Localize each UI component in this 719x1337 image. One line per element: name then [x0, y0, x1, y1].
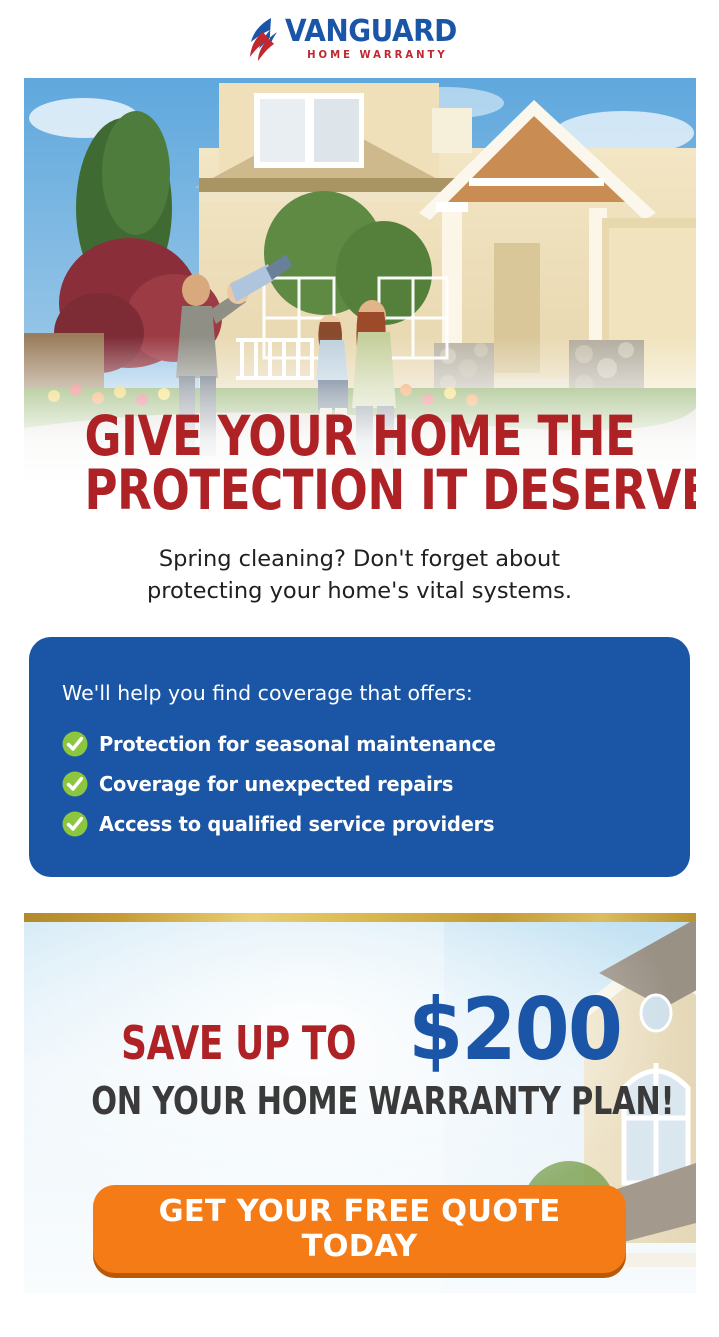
get-free-quote-button[interactable]: GET YOUR FREE QUOTE TODAY	[93, 1185, 626, 1273]
flame-swoosh-icon	[249, 16, 283, 62]
list-item: Access to qualified service providers	[29, 811, 690, 837]
benefit-label: Coverage for unexpected repairs	[99, 772, 453, 796]
hero-section: GIVE YOUR HOME THE PROTECTION IT DESERVE…	[24, 78, 696, 526]
subheadline-line-2: protecting your home's vital systems.	[24, 576, 696, 608]
hero-headline-line-1: GIVE YOUR HOME THE	[84, 410, 635, 464]
benefit-label: Access to qualified service providers	[99, 812, 494, 836]
subheadline-line-1: Spring cleaning? Don't forget about	[24, 544, 696, 576]
site-header: VANGUARD HOME WARRANTY	[0, 0, 719, 78]
savings-subline: ON YOUR HOME WARRANTY PLAN!	[91, 1079, 629, 1123]
gold-divider-bar	[24, 913, 696, 922]
save-amount: $200	[409, 987, 622, 1073]
list-item: Protection for seasonal maintenance	[29, 731, 690, 757]
savings-headline: SAVE UP TO $200	[24, 987, 696, 1073]
logo-tagline: HOME WARRANTY	[289, 50, 466, 61]
subheadline: Spring cleaning? Don't forget about prot…	[24, 544, 696, 608]
benefit-label: Protection for seasonal maintenance	[99, 732, 496, 756]
savings-text-block: SAVE UP TO $200 ON YOUR HOME WARRANTY PL…	[24, 987, 696, 1123]
check-circle-icon	[62, 731, 88, 757]
hero-headline-line-2: PROTECTION IT DESERVES	[84, 464, 635, 518]
vanguard-logo[interactable]: VANGUARD HOME WARRANTY	[249, 16, 470, 62]
savings-banner: SAVE UP TO $200 ON YOUR HOME WARRANTY PL…	[24, 913, 696, 1293]
benefits-box: We'll help you find coverage that offers…	[29, 637, 690, 877]
cta-container: GET YOUR FREE QUOTE TODAY	[24, 1185, 696, 1273]
save-prefix: SAVE UP TO	[121, 1016, 356, 1070]
benefits-intro: We'll help you find coverage that offers…	[29, 681, 690, 705]
check-circle-icon	[62, 811, 88, 837]
hero-headline: GIVE YOUR HOME THE PROTECTION IT DESERVE…	[84, 410, 635, 518]
logo-wordmark: VANGUARD	[285, 17, 457, 47]
check-circle-icon	[62, 771, 88, 797]
list-item: Coverage for unexpected repairs	[29, 771, 690, 797]
